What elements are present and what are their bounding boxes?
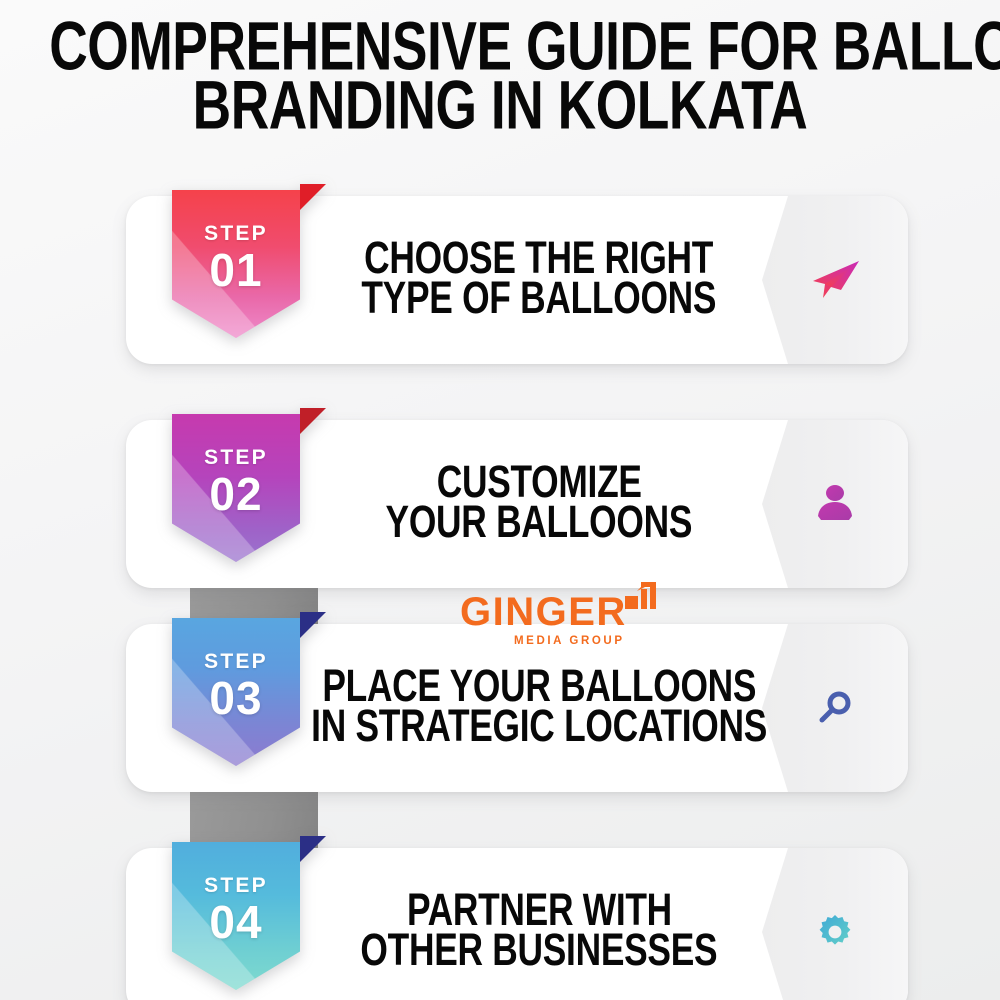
step-row-4: PARTNER WITH OTHER BUSINESSES <box>0 848 1000 1000</box>
step-card-1-icon-plate <box>762 196 908 364</box>
step-row-1: CHOOSE THE RIGHT TYPE OF BALLOONS <box>0 196 1000 364</box>
step-card-3-icon-plate <box>762 624 908 792</box>
step-card-2-headline-line-2: YOUR BALLOONS <box>386 500 693 547</box>
gear-icon <box>815 912 855 952</box>
step-card-1-headline-line-2: TYPE OF BALLOONS <box>362 276 717 323</box>
paper-plane-icon <box>809 257 861 303</box>
step-ribbon-4-body <box>172 842 300 990</box>
step-ribbon-3: STEP 03 <box>172 618 300 766</box>
step-card-3-headline: PLACE YOUR BALLOONS IN STRATEGIC LOCATIO… <box>316 624 762 792</box>
step-ribbon-4: STEP 04 <box>172 842 300 990</box>
step-card-2-icon-plate <box>762 420 908 588</box>
step-card-4-headline: PARTNER WITH OTHER BUSINESSES <box>316 848 762 1000</box>
page-title-line-2: BRANDING IN KOLKATA <box>49 73 951 138</box>
step-ribbon-2: STEP 02 <box>172 414 300 562</box>
step-card-2-headline: CUSTOMIZE YOUR BALLOONS <box>316 420 762 588</box>
page-title: COMPREHENSIVE GUIDE FOR BALLOON BRANDING… <box>0 14 1000 128</box>
magnifier-icon <box>815 687 855 729</box>
step-row-2: CUSTOMIZE YOUR BALLOONS <box>0 420 1000 588</box>
step-card-4-headline-line-2: OTHER BUSINESSES <box>361 928 718 975</box>
step-row-3: PLACE YOUR BALLOONS IN STRATEGIC LOCATIO… <box>0 624 1000 792</box>
step-ribbon-2-body <box>172 414 300 562</box>
brand-logo: GINGER MEDIA GROUP <box>460 592 661 647</box>
brand-logo-text: GINGER MEDIA GROUP <box>460 592 627 647</box>
step-ribbon-3-body <box>172 618 300 766</box>
person-icon <box>815 483 855 525</box>
step-ribbon-1: STEP 01 <box>172 190 300 338</box>
step-card-4-icon-plate <box>762 848 908 1000</box>
brand-logo-wordmark: GINGER <box>460 592 627 632</box>
step-ribbon-1-body <box>172 190 300 338</box>
brand-logo-subtitle: MEDIA GROUP <box>514 635 627 647</box>
ascending-bars-arrow-icon <box>623 580 661 619</box>
step-card-3-headline-line-2: IN STRATEGIC LOCATIONS <box>311 704 767 751</box>
step-card-1-headline: CHOOSE THE RIGHT TYPE OF BALLOONS <box>316 196 762 364</box>
